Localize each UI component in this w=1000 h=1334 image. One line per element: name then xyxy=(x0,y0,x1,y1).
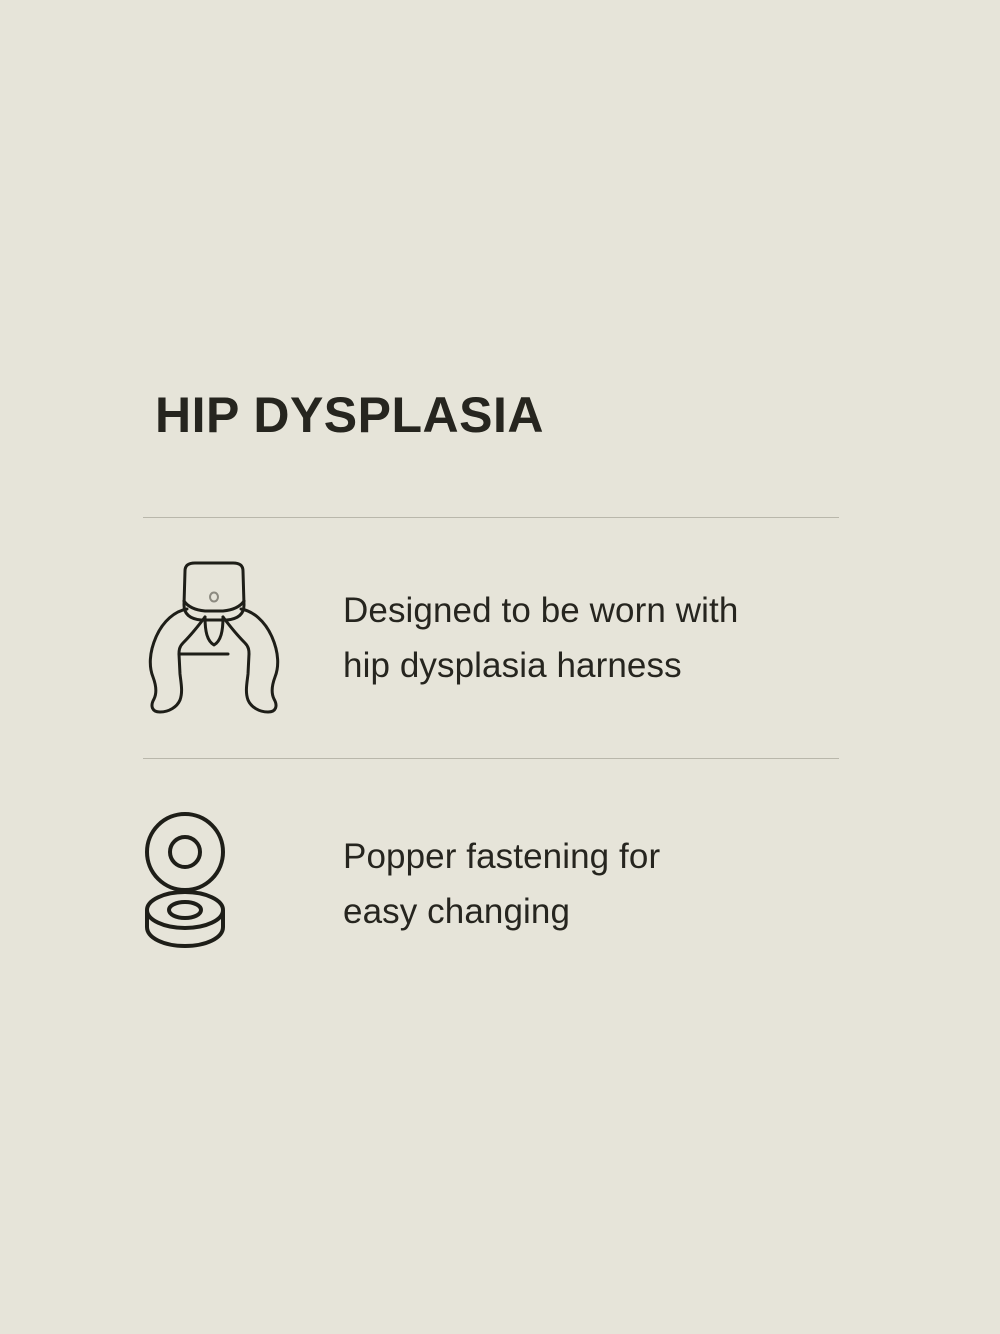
popper-snap-icon xyxy=(143,811,303,957)
baby-in-harness-icon xyxy=(143,559,303,717)
feature-item-popper-fastening: Popper fastening for easy changing xyxy=(143,759,839,1009)
feature-text-popper-fastening: Popper fastening for easy changing xyxy=(303,829,839,939)
feature-card: HIP DYSPLASIA xyxy=(143,386,839,1009)
feature-text-line: easy changing xyxy=(343,884,839,939)
feature-text-line: Popper fastening for xyxy=(343,829,839,884)
page-title: HIP DYSPLASIA xyxy=(155,386,839,444)
feature-text-hip-dysplasia-harness: Designed to be worn with hip dysplasia h… xyxy=(303,583,839,693)
feature-text-line: hip dysplasia harness xyxy=(343,638,839,693)
feature-card-page: { "page": { "background_color": "#E6E4D9… xyxy=(0,0,1000,1334)
feature-text-line: Designed to be worn with xyxy=(343,583,839,638)
feature-item-hip-dysplasia-harness: Designed to be worn with hip dysplasia h… xyxy=(143,518,839,758)
